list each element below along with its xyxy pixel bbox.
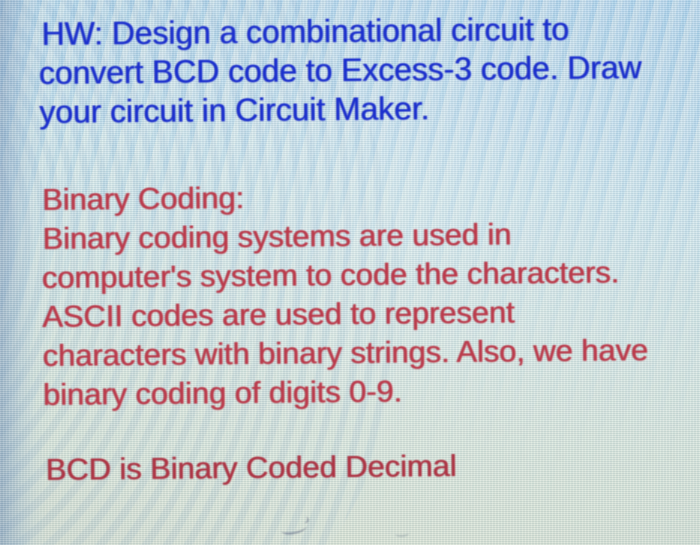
assignment-line-3: your circuit in Circuit Maker. <box>39 91 429 129</box>
bcd-definition-line: BCD is Binary Coded Decimal <box>46 449 457 487</box>
text-content: HW: Design a combinational circuit to co… <box>0 0 700 545</box>
binary-coding-heading: Binary Coding: <box>42 181 244 217</box>
binary-coding-body-line-1: Binary coding systems are used in <box>43 217 512 255</box>
binary-coding-body-line-2: computer's system to code the characters… <box>42 255 620 295</box>
binary-coding-body-line-5: binary coding of digits 0-9. <box>43 375 402 412</box>
binary-coding-body-line-4: characters with binary strings. Also, we… <box>43 333 649 373</box>
binary-coding-body-line-3: ASCII codes are used to represent <box>42 295 515 334</box>
assignment-line-1: HW: Design a combinational circuit to <box>42 12 570 51</box>
screen-photo: HW: Design a combinational circuit to co… <box>0 0 700 545</box>
assignment-line-2: convert BCD code to Excess-3 code. Draw <box>39 50 642 90</box>
